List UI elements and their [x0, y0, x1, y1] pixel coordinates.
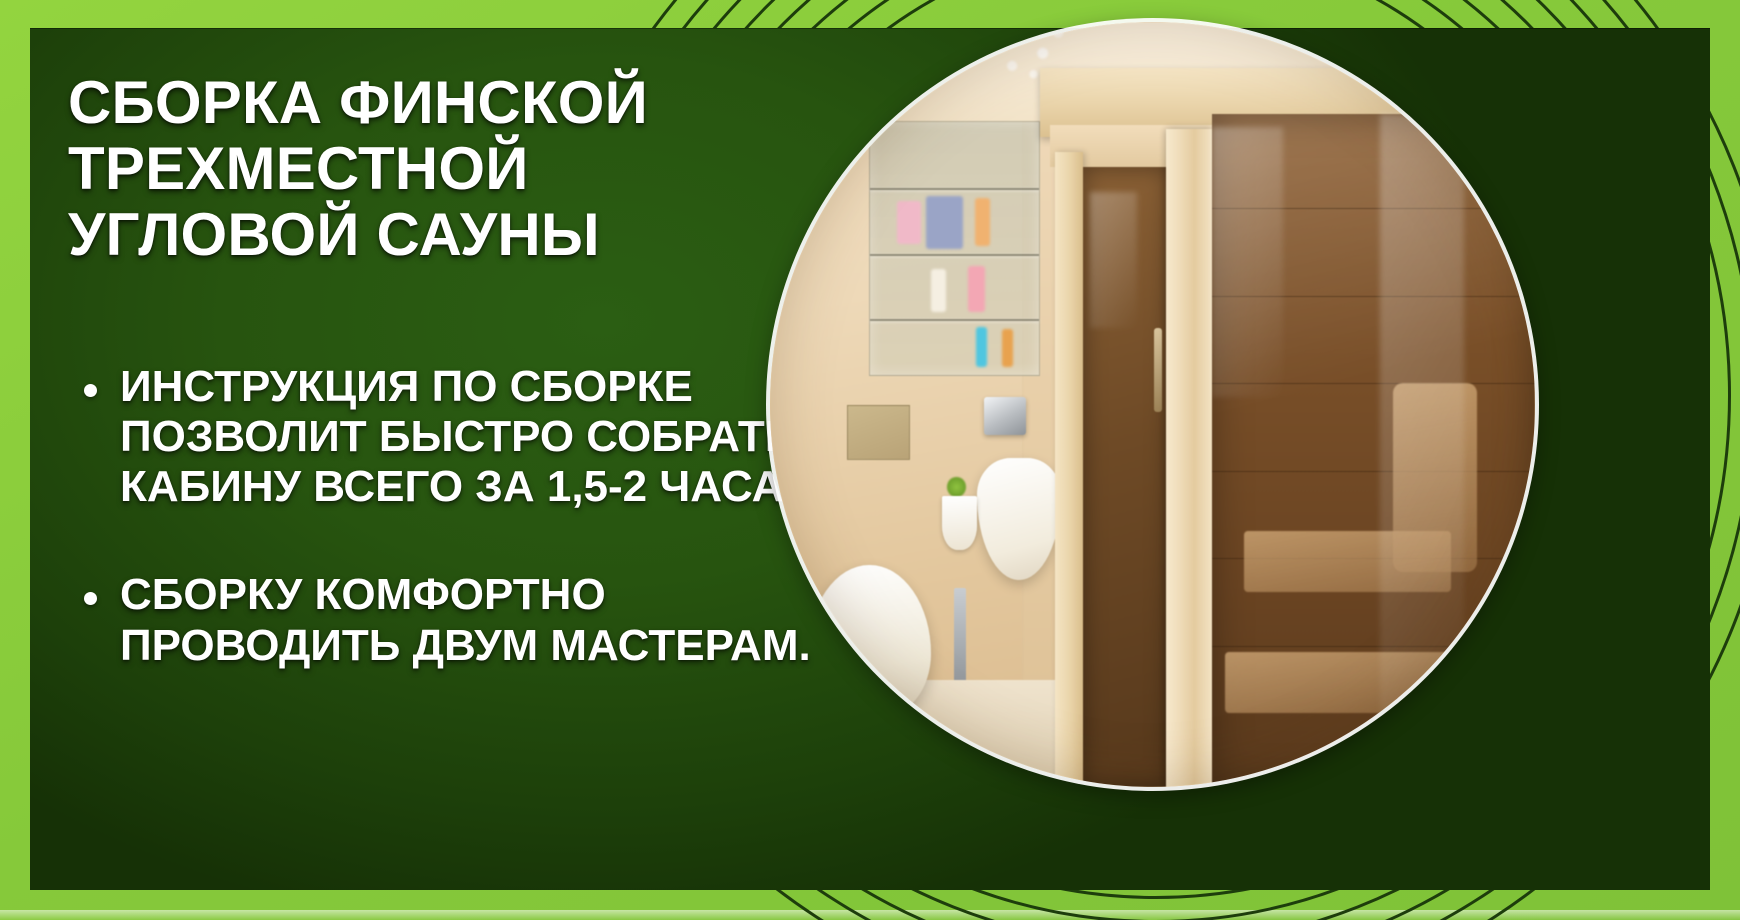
- sauna-door-mullion: [1166, 129, 1211, 787]
- sauna-cabin: [1030, 22, 1535, 787]
- bullet-text: ИНСТРУКЦИЯ ПО СБОРКЕ ПОЗВОЛИТ БЫСТРО СОБ…: [120, 362, 796, 511]
- sauna-photo: [770, 22, 1535, 787]
- shelf-bottle: [931, 269, 946, 312]
- shelf-bottle: [975, 198, 990, 246]
- text-column: СБОРКА ФИНСКОЙ ТРЕХМЕСТНОЙ УГЛОВОЙ САУНЫ…: [68, 70, 848, 671]
- page-title: СБОРКА ФИНСКОЙ ТРЕХМЕСТНОЙ УГЛОВОЙ САУНЫ: [68, 70, 808, 268]
- list-item: СБОРКУ КОМФОРТНО ПРОВОДИТЬ ДВУМ МАСТЕРАМ…: [68, 570, 820, 670]
- shelf-divider: [870, 188, 1038, 190]
- wood-plank-line: [1212, 646, 1535, 647]
- photo-content: [770, 22, 1535, 787]
- glass-glare: [1090, 192, 1137, 328]
- shelf-bottle: [1002, 329, 1014, 367]
- shelf-bottle: [976, 327, 986, 367]
- bullet-list: ИНСТРУКЦИЯ ПО СБОРКЕ ПОЗВОЛИТ БЫСТРО СОБ…: [68, 362, 848, 671]
- bullet-text: СБОРКУ КОМФОРТНО ПРОВОДИТЬ ДВУМ МАСТЕРАМ…: [120, 570, 811, 669]
- list-item: ИНСТРУКЦИЯ ПО СБОРКЕ ПОЗВОЛИТ БЫСТРО СОБ…: [68, 362, 820, 512]
- sauna-door-handle: [1154, 328, 1162, 412]
- toilet-paper-holder: [942, 496, 976, 550]
- wall-niche: [847, 405, 910, 461]
- bullet-dot-icon: [84, 384, 97, 397]
- shelf-bottle: [968, 266, 985, 311]
- shelf-divider: [870, 319, 1038, 321]
- frame-bottom-highlight: [0, 910, 1740, 920]
- sauna-door-frame: [1055, 152, 1083, 787]
- glass-glare: [1212, 127, 1283, 396]
- green-hook-icon: [947, 477, 965, 497]
- slide-canvas: СБОРКА ФИНСКОЙ ТРЕХМЕСТНОЙ УГЛОВОЙ САУНЫ…: [0, 0, 1740, 920]
- glass-glare: [1380, 114, 1464, 760]
- sauna-door-glass: [1083, 167, 1169, 787]
- shelf-bottle: [926, 196, 963, 249]
- wood-plank-line: [1212, 471, 1535, 472]
- shelf-bottle: [897, 201, 921, 244]
- sauna-cabin-glass: [1212, 114, 1535, 787]
- bullet-dot-icon: [84, 592, 97, 605]
- glass-shelf-cabinet: [869, 121, 1039, 375]
- shelf-divider: [870, 254, 1038, 256]
- flush-plate: [984, 397, 1026, 435]
